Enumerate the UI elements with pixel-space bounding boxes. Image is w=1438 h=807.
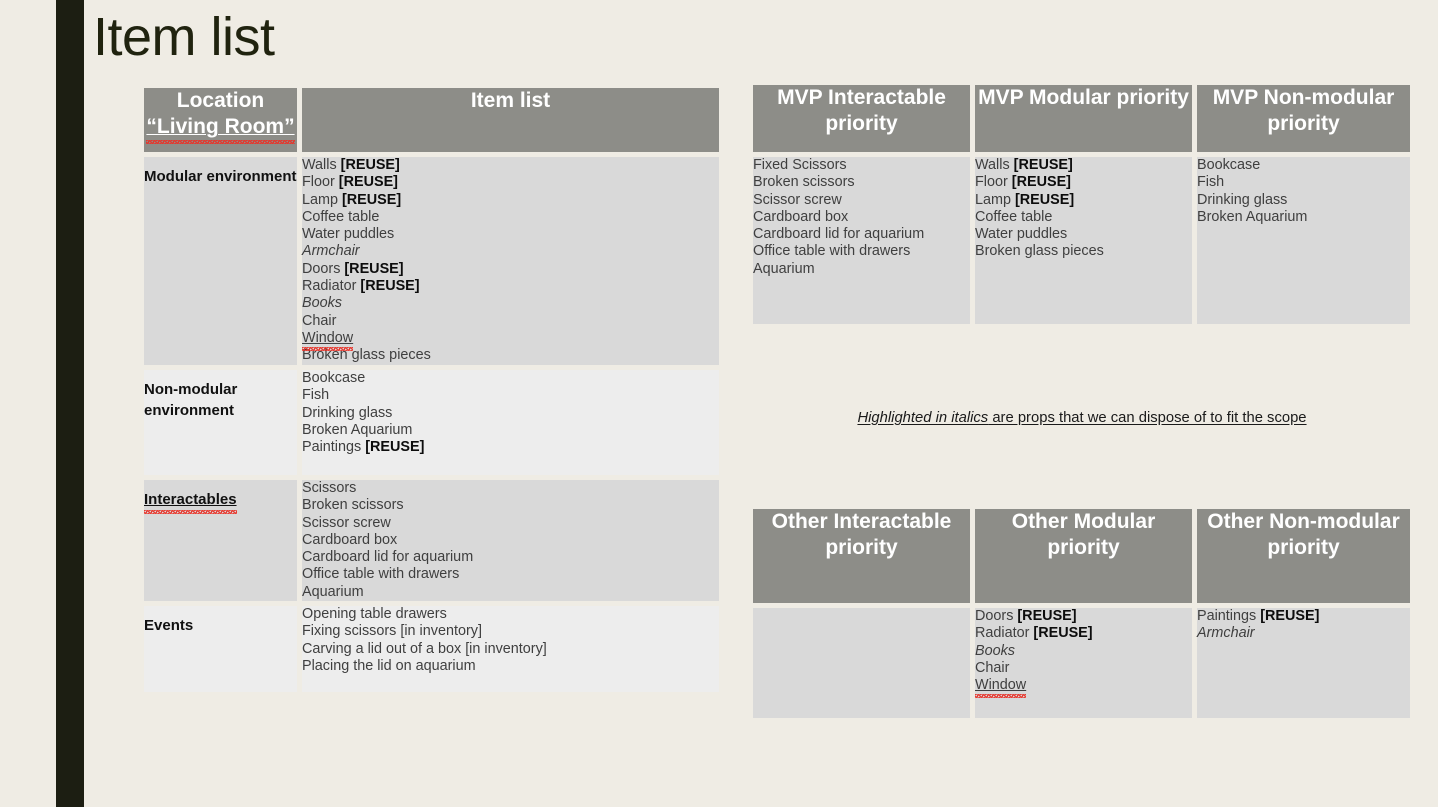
left-accent-bar <box>56 0 84 807</box>
list-item: Doors [REUSE] <box>302 261 719 278</box>
header-mvp-non-modular-priority: MVP Non-modular priority <box>1197 85 1410 152</box>
reuse-tag: [REUSE] <box>360 278 419 294</box>
table-row: Fixed Scissors Broken scissors Scissor s… <box>753 157 1410 324</box>
list-item: Aquarium <box>302 584 719 601</box>
reuse-tag: [REUSE] <box>341 157 400 173</box>
reuse-tag: [REUSE] <box>1033 625 1092 641</box>
header-item-list: Item list <box>302 88 719 152</box>
list-item: Chair <box>975 660 1192 677</box>
list-item: Walls [REUSE] <box>302 157 719 174</box>
list-item: Radiator [REUSE] <box>302 278 719 295</box>
table-header-row: MVP Interactable priority MVP Modular pr… <box>753 85 1410 152</box>
dispose-item: Armchair <box>302 243 360 259</box>
mvp-priority-table: MVP Interactable priority MVP Modular pr… <box>753 85 1410 324</box>
list-item: Placing the lid on aquarium <box>302 658 719 675</box>
list-item: Water puddles <box>302 226 719 243</box>
misspelled-word: Window <box>302 330 353 347</box>
reuse-tag: [REUSE] <box>1014 157 1073 173</box>
table-header-row: Other Interactable priority Other Modula… <box>753 509 1410 603</box>
italics-legend-note: Highlighted in italics are props that we… <box>752 408 1412 428</box>
table-row: Events Opening table drawers Fixing scis… <box>144 606 719 692</box>
row-label-events: Events <box>144 606 297 692</box>
reuse-tag: [REUSE] <box>365 439 424 455</box>
list-item: Broken scissors <box>753 174 970 191</box>
list-item: Cardboard lid for aquarium <box>753 226 970 243</box>
list-item: Drinking glass <box>302 405 719 422</box>
list-item: Cardboard lid for aquarium <box>302 549 719 566</box>
list-item: Window <box>975 677 1192 694</box>
list-item: Lamp [REUSE] <box>975 192 1192 209</box>
list-item: Broken Aquarium <box>302 422 719 439</box>
list-item: Lamp [REUSE] <box>302 192 719 209</box>
row-label-modular-environment: Modular environment <box>144 157 297 365</box>
list-item: Fixed Scissors <box>753 157 970 174</box>
header-location: Location “Living Room” <box>144 88 297 152</box>
mvp-non-modular-items: Bookcase Fish Drinking glass Broken Aqua… <box>1197 157 1410 324</box>
list-item: Coffee table <box>302 209 719 226</box>
list-item: Broken glass pieces <box>975 243 1192 260</box>
reuse-tag: [REUSE] <box>339 174 398 190</box>
list-item: Drinking glass <box>1197 192 1410 209</box>
reuse-tag: [REUSE] <box>1017 608 1076 624</box>
list-item: Cardboard box <box>302 532 719 549</box>
row-label-interactables: Interactables <box>144 480 297 601</box>
reuse-tag: [REUSE] <box>344 261 403 277</box>
dispose-item: Books <box>975 643 1015 659</box>
italics-legend-rest: are props that we can dispose of to fit … <box>988 410 1306 426</box>
list-item: Floor [REUSE] <box>302 174 719 191</box>
list-item: Broken scissors <box>302 497 719 514</box>
list-item: Water puddles <box>975 226 1192 243</box>
list-item: Bookcase <box>1197 157 1410 174</box>
header-other-modular-priority: Other Modular priority <box>975 509 1192 603</box>
header-other-non-modular-priority: Other Non-modular priority <box>1197 509 1410 603</box>
other-priority-table: Other Interactable priority Other Modula… <box>753 509 1410 718</box>
list-item: Books <box>975 643 1192 660</box>
list-item: Walls [REUSE] <box>975 157 1192 174</box>
mvp-modular-items: Walls [REUSE] Floor [REUSE] Lamp [REUSE]… <box>975 157 1192 324</box>
table-row: Non-modular environment Bookcase Fish Dr… <box>144 370 719 475</box>
list-item: Scissor screw <box>753 192 970 209</box>
list-item: Paintings [REUSE] <box>1197 608 1410 625</box>
list-item: Floor [REUSE] <box>975 174 1192 191</box>
row-items-interactables: Scissors Broken scissors Scissor screw C… <box>302 480 719 601</box>
list-item: Fish <box>1197 174 1410 191</box>
mvp-interactable-items: Fixed Scissors Broken scissors Scissor s… <box>753 157 970 324</box>
table-row: Doors [REUSE] Radiator [REUSE] Books Cha… <box>753 608 1410 718</box>
list-item: Scissor screw <box>302 515 719 532</box>
header-location-line1: Location <box>144 88 297 114</box>
list-item: Chair <box>302 313 719 330</box>
list-item: Doors [REUSE] <box>975 608 1192 625</box>
reuse-tag: [REUSE] <box>342 192 401 208</box>
row-label-text: Modular environment <box>144 168 297 185</box>
list-item: Fixing scissors [in inventory] <box>302 623 719 640</box>
list-item: Books <box>302 295 719 312</box>
row-items-modular-environment: Walls [REUSE] Floor [REUSE] Lamp [REUSE]… <box>302 157 719 365</box>
misspelled-word: Window <box>975 677 1026 694</box>
reuse-tag: [REUSE] <box>1012 174 1071 190</box>
list-item: Broken glass pieces <box>302 347 719 364</box>
list-item: Coffee table <box>975 209 1192 226</box>
header-location-misspelled-text: “Living Room” <box>146 114 294 140</box>
dispose-item: Armchair <box>1197 625 1255 641</box>
table-row: Interactables Scissors Broken scissors S… <box>144 480 719 601</box>
row-label-non-modular-environment: Non-modular environment <box>144 370 297 475</box>
location-item-list-table: Location “Living Room” Item list Modular… <box>144 88 719 692</box>
header-location-line2: “Living Room” <box>144 114 297 140</box>
italics-legend-emphasis: Highlighted in italics <box>857 410 988 426</box>
list-item: Fish <box>302 387 719 404</box>
list-item: Radiator [REUSE] <box>975 625 1192 642</box>
table-header-row: Location “Living Room” Item list <box>144 88 719 152</box>
reuse-tag: [REUSE] <box>1015 192 1074 208</box>
header-mvp-modular-priority: MVP Modular priority <box>975 85 1192 152</box>
list-item: Window <box>302 330 719 347</box>
other-non-modular-items: Paintings [REUSE] Armchair <box>1197 608 1410 718</box>
list-item: Carving a lid out of a box [in inventory… <box>302 641 719 658</box>
other-modular-items: Doors [REUSE] Radiator [REUSE] Books Cha… <box>975 608 1192 718</box>
list-item: Aquarium <box>753 261 970 278</box>
row-label-text: Events <box>144 617 193 634</box>
list-item: Scissors <box>302 480 719 497</box>
list-item: Cardboard box <box>753 209 970 226</box>
row-items-non-modular-environment: Bookcase Fish Drinking glass Broken Aqua… <box>302 370 719 475</box>
page-title: Item list <box>93 2 275 72</box>
list-item: Armchair <box>1197 625 1410 642</box>
row-label-text: Interactables <box>144 489 237 510</box>
list-item: Opening table drawers <box>302 606 719 623</box>
header-other-interactable-priority: Other Interactable priority <box>753 509 970 603</box>
list-item: Paintings [REUSE] <box>302 439 719 456</box>
list-item: Office table with drawers <box>302 566 719 583</box>
row-items-events: Opening table drawers Fixing scissors [i… <box>302 606 719 692</box>
list-item: Bookcase <box>302 370 719 387</box>
dispose-item: Books <box>302 295 342 311</box>
table-row: Modular environment Walls [REUSE] Floor … <box>144 157 719 365</box>
list-item: Armchair <box>302 243 719 260</box>
row-label-text: Non-modular environment <box>144 381 237 419</box>
list-item: Office table with drawers <box>753 243 970 260</box>
other-interactable-items-empty <box>753 608 970 718</box>
header-mvp-interactable-priority: MVP Interactable priority <box>753 85 970 152</box>
list-item: Broken Aquarium <box>1197 209 1410 226</box>
reuse-tag: [REUSE] <box>1260 608 1319 624</box>
